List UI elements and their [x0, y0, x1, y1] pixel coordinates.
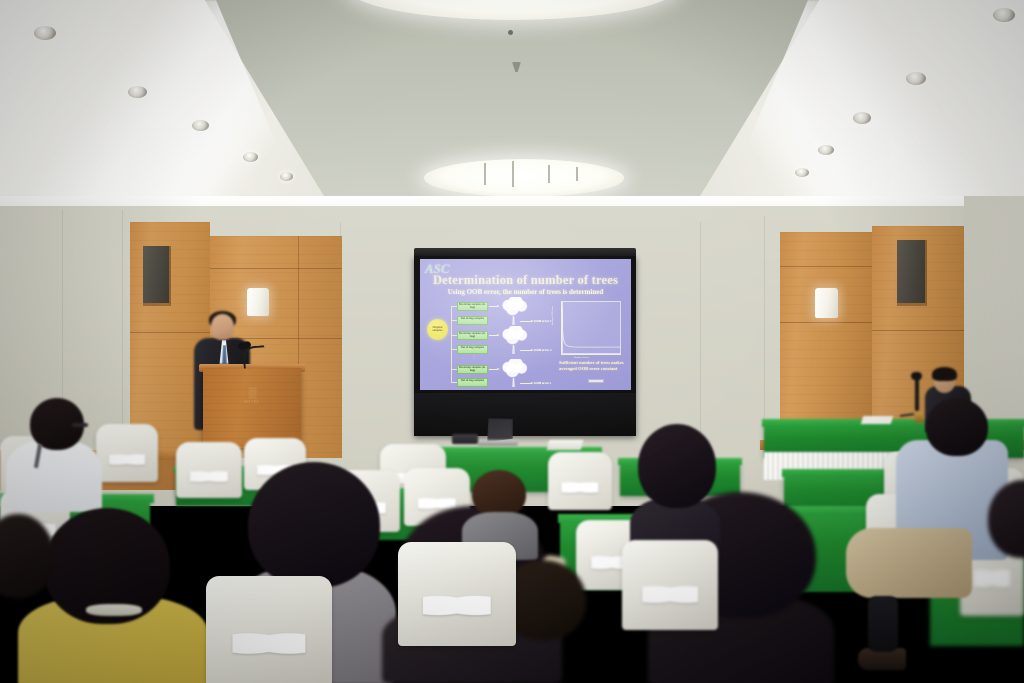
bootstrap-box: Out-of-bag samples	[457, 316, 488, 325]
downlight-icon	[34, 26, 56, 40]
audience-member-head	[638, 424, 716, 508]
sock	[868, 596, 898, 652]
oob-error-label: OOB error t	[534, 381, 551, 385]
slide-badge	[588, 379, 604, 383]
original-samples-label: Originalsamples	[427, 319, 448, 333]
flow-arrow	[520, 383, 532, 384]
chair	[206, 576, 332, 683]
bootstrap-box: Out-of-bag samples	[457, 378, 488, 387]
oob-error-label: OOB error 2	[534, 348, 551, 352]
slide-subtitle: Using OOB error, the number of trees is …	[420, 288, 631, 296]
chart-xlabel: Number of trees	[574, 357, 589, 359]
slide-diagram: Originalsamples Bootstrap samples (in-ba…	[420, 297, 631, 389]
chart-ylabel: Averaged OOB error	[552, 306, 554, 325]
bootstrap-box: Bootstrap samples (in-bag)	[457, 331, 488, 340]
podium-crest-icon: ▒	[232, 388, 272, 399]
oob-error-curve	[562, 301, 621, 354]
papers-on-av-table	[547, 440, 583, 450]
chair	[398, 542, 516, 646]
downlight-icon	[280, 172, 293, 181]
oob-error-label: OOB error 1	[534, 319, 551, 323]
flow-arrow	[520, 350, 532, 351]
screen-lower-blank	[414, 393, 636, 436]
downlight-icon	[128, 86, 147, 98]
av-equipment	[452, 434, 478, 444]
chair	[176, 442, 242, 498]
audience-member-head	[472, 470, 526, 518]
sprinkler-icon	[508, 30, 513, 35]
bootstrap-box: Out-of-bag samples	[457, 345, 488, 354]
downlight-icon	[818, 145, 834, 155]
head-table-papers	[861, 416, 893, 424]
downlight-icon	[906, 72, 926, 85]
downlight-icon	[993, 8, 1015, 22]
downlight-icon	[243, 152, 258, 162]
original-samples-node: Originalsamples	[427, 319, 448, 340]
downlight-icon	[795, 168, 809, 177]
flow-arrow	[520, 321, 532, 322]
chair	[96, 424, 158, 482]
wall-sconce-right	[815, 288, 838, 318]
chair	[622, 540, 718, 630]
bootstrap-box: Bootstrap samples (in-bag)	[457, 302, 488, 311]
wall-speaker-right	[897, 240, 927, 306]
laptop-base	[477, 440, 518, 446]
audience-member-head	[926, 398, 988, 456]
wall-speaker-left	[143, 246, 171, 306]
chairperson-microphone-icon	[915, 375, 919, 411]
presenter-head	[211, 314, 234, 340]
downlight-icon	[853, 112, 871, 124]
trousers	[846, 528, 972, 598]
flow-arrow	[489, 335, 498, 336]
downlight-icon	[192, 120, 209, 131]
oob-error-chart	[561, 301, 621, 355]
audience-member-torso	[6, 440, 102, 512]
presentation-slide: ASC Determination of number of trees Usi…	[420, 259, 631, 390]
chair	[548, 452, 612, 510]
projection-screen: ASC Determination of number of trees Usi…	[414, 256, 636, 436]
slide-bullet-text: Sufficient number of trees makes average…	[559, 360, 625, 372]
wall-sconce-left	[247, 288, 269, 316]
vertical-ellipsis: ⋮	[472, 355, 476, 358]
bootstrap-box: Bootstrap samples (in-bag)	[457, 365, 488, 374]
oval-ceiling-light-lower	[424, 159, 624, 197]
flow-arrow	[489, 306, 498, 307]
glasses-icon	[72, 423, 88, 427]
table-bell-icon	[915, 412, 924, 423]
flow-arrow	[489, 369, 498, 370]
conference-room-photo: ASC Determination of number of trees Usi…	[0, 0, 1024, 683]
slide-title: Determination of number of trees	[420, 273, 631, 288]
chairperson-microphone-head	[911, 372, 922, 380]
podium-emblem: ▒ HOTEL	[232, 388, 272, 414]
laptop-icon	[487, 418, 513, 442]
podium-wordmark: HOTEL	[232, 399, 272, 404]
collar	[86, 604, 142, 616]
audience-member-head	[248, 462, 380, 588]
chairperson-hair	[932, 367, 957, 381]
